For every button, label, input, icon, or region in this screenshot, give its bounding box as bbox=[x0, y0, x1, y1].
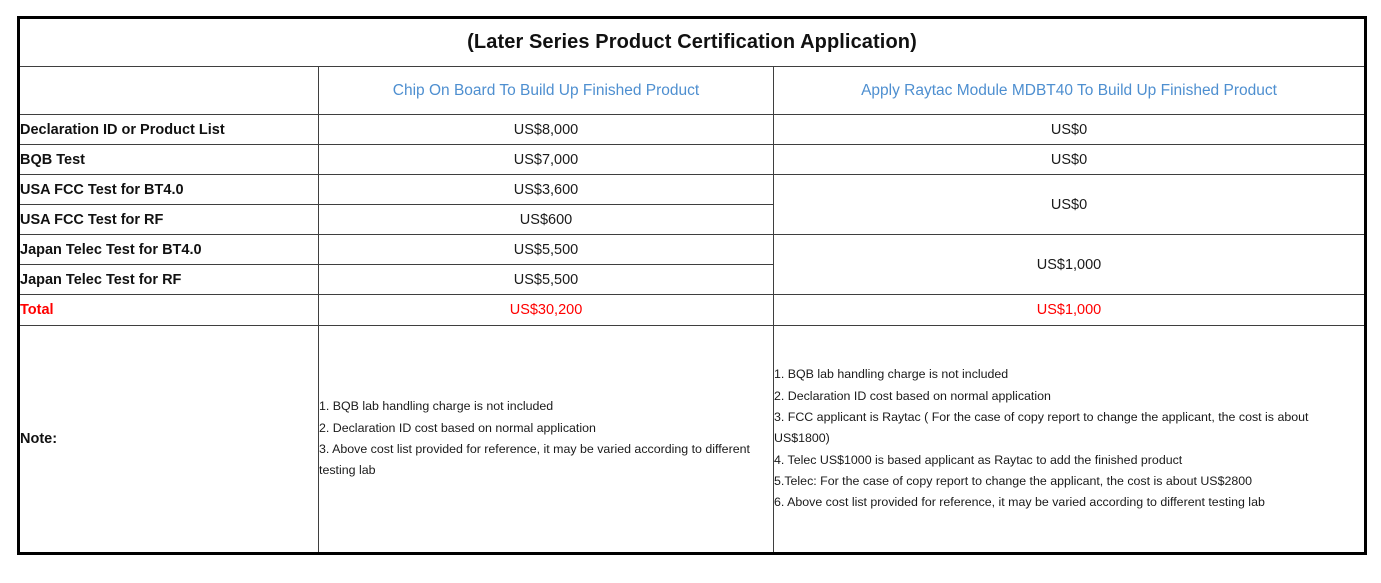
cell-cob-usa-fcc-bt40: US$3,600 bbox=[319, 175, 774, 205]
note-line: 3. FCC applicant is Raytac ( For the cas… bbox=[774, 407, 1364, 450]
table-total-row: Total US$30,200 US$1,000 bbox=[19, 295, 1366, 326]
table-row: BQB Test US$7,000 US$0 bbox=[19, 145, 1366, 175]
cell-module-usa-fcc-merged: US$0 bbox=[774, 175, 1366, 235]
cell-cob-declaration-id: US$8,000 bbox=[319, 115, 774, 145]
cell-cob-japan-telec-rf: US$5,500 bbox=[319, 265, 774, 295]
note-line: 2. Declaration ID cost based on normal a… bbox=[774, 386, 1364, 407]
note-line: 2. Declaration ID cost based on normal a… bbox=[319, 418, 773, 439]
row-label-declaration-id: Declaration ID or Product List bbox=[19, 115, 319, 145]
cell-module-total: US$1,000 bbox=[774, 295, 1366, 326]
note-list-module: 1. BQB lab handling charge is not includ… bbox=[774, 364, 1364, 513]
certification-cost-table: (Later Series Product Certification Appl… bbox=[17, 16, 1367, 555]
cell-module-japan-telec-merged: US$1,000 bbox=[774, 235, 1366, 295]
table-row: Declaration ID or Product List US$8,000 … bbox=[19, 115, 1366, 145]
table-row: USA FCC Test for BT4.0 US$3,600 US$0 bbox=[19, 175, 1366, 205]
row-label-japan-telec-rf: Japan Telec Test for RF bbox=[19, 265, 319, 295]
note-line: 1. BQB lab handling charge is not includ… bbox=[319, 396, 773, 417]
row-label-bqb-test: BQB Test bbox=[19, 145, 319, 175]
column-header-raytac-module: Apply Raytac Module MDBT40 To Build Up F… bbox=[774, 67, 1366, 115]
header-corner-blank bbox=[19, 67, 319, 115]
table-title-row: (Later Series Product Certification Appl… bbox=[19, 18, 1366, 67]
row-label-usa-fcc-rf: USA FCC Test for RF bbox=[19, 205, 319, 235]
cell-cob-note: 1. BQB lab handling charge is not includ… bbox=[319, 326, 774, 554]
page-title: (Later Series Product Certification Appl… bbox=[19, 18, 1366, 67]
cell-cob-total: US$30,200 bbox=[319, 295, 774, 326]
table-header-row: Chip On Board To Build Up Finished Produ… bbox=[19, 67, 1366, 115]
note-line: 3. Above cost list provided for referenc… bbox=[319, 439, 773, 482]
cell-module-bqb-test: US$0 bbox=[774, 145, 1366, 175]
table-note-row: Note: 1. BQB lab handling charge is not … bbox=[19, 326, 1366, 554]
note-line: 5.Telec: For the case of copy report to … bbox=[774, 471, 1364, 492]
note-line: 6. Above cost list provided for referenc… bbox=[774, 492, 1364, 513]
row-label-japan-telec-bt40: Japan Telec Test for BT4.0 bbox=[19, 235, 319, 265]
note-line: 4. Telec US$1000 is based applicant as R… bbox=[774, 450, 1364, 471]
row-label-note: Note: bbox=[19, 326, 319, 554]
row-label-usa-fcc-bt40: USA FCC Test for BT4.0 bbox=[19, 175, 319, 205]
cell-module-declaration-id: US$0 bbox=[774, 115, 1366, 145]
cell-cob-bqb-test: US$7,000 bbox=[319, 145, 774, 175]
column-header-chip-on-board: Chip On Board To Build Up Finished Produ… bbox=[319, 67, 774, 115]
cell-cob-japan-telec-bt40: US$5,500 bbox=[319, 235, 774, 265]
cell-module-note: 1. BQB lab handling charge is not includ… bbox=[774, 326, 1366, 554]
cell-cob-usa-fcc-rf: US$600 bbox=[319, 205, 774, 235]
note-list-cob: 1. BQB lab handling charge is not includ… bbox=[319, 396, 773, 481]
row-label-total: Total bbox=[19, 295, 319, 326]
note-line: 1. BQB lab handling charge is not includ… bbox=[774, 364, 1364, 385]
table-row: Japan Telec Test for BT4.0 US$5,500 US$1… bbox=[19, 235, 1366, 265]
spreadsheet-canvas: (Later Series Product Certification Appl… bbox=[0, 0, 1381, 583]
